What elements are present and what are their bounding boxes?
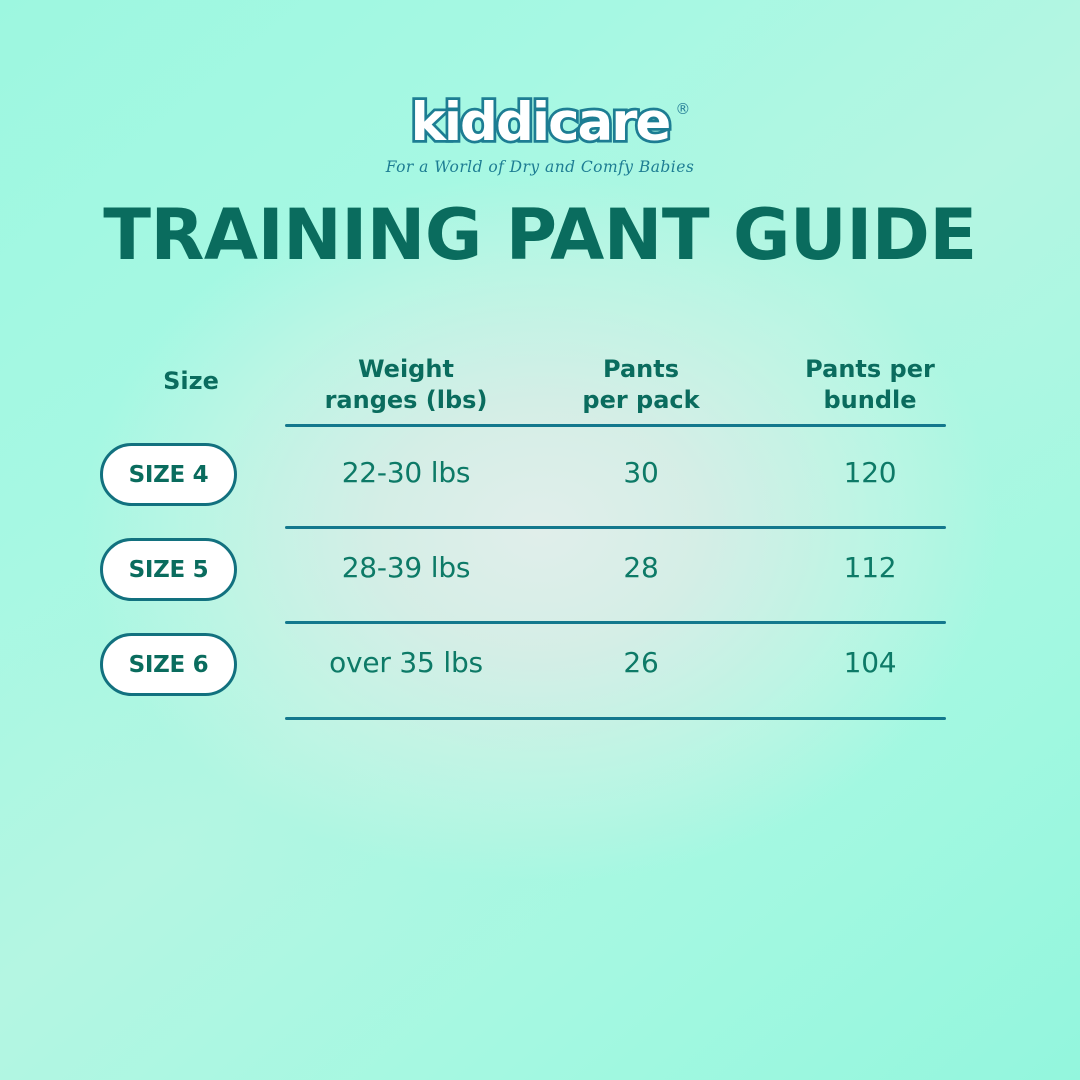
divider-header <box>285 424 946 427</box>
size-guide-table: Size Weight ranges (lbs) Pants per pack … <box>96 340 984 714</box>
divider-row-1 <box>285 526 946 529</box>
column-header-pack-line2: per pack <box>526 385 756 416</box>
column-header-size: Size <box>96 340 286 397</box>
cell-weight-range: 28-39 lbs <box>286 524 526 582</box>
size-pill-cell: SIZE 5 <box>96 524 286 601</box>
cell-pants-per-bundle: 120 <box>756 429 984 487</box>
column-header-bundle-line2: bundle <box>756 385 984 416</box>
size-badge: SIZE 4 <box>100 443 237 506</box>
column-header-bundle-line1: Pants per <box>756 354 984 385</box>
cell-pants-per-bundle: 104 <box>756 619 984 677</box>
cell-weight-range: 22-30 lbs <box>286 429 526 487</box>
table-row: SIZE 6 over 35 lbs 26 104 <box>96 619 984 714</box>
column-header-weight-line1: Weight <box>286 354 526 385</box>
brand-logo: kiddicare ® For a World of Dry and Comfy… <box>0 96 1080 176</box>
cell-weight-range: over 35 lbs <box>286 619 526 677</box>
brand-wordmark: kiddicare <box>411 96 670 149</box>
cell-pants-per-bundle: 112 <box>756 524 984 582</box>
brand-tagline: For a World of Dry and Comfy Babies <box>0 158 1080 176</box>
poster-canvas: kiddicare ® For a World of Dry and Comfy… <box>0 0 1080 1080</box>
column-header-pants-per-pack: Pants per pack <box>526 340 756 415</box>
page-title: TRAINING PANT GUIDE <box>0 199 1080 272</box>
size-pill-cell: SIZE 4 <box>96 429 286 506</box>
table-row: SIZE 5 28-39 lbs 28 112 <box>96 524 984 619</box>
registered-trademark-icon: ® <box>675 102 690 117</box>
table-row: SIZE 4 22-30 lbs 30 120 <box>96 429 984 524</box>
divider-row-2 <box>285 621 946 624</box>
size-badge: SIZE 5 <box>100 538 237 601</box>
size-pill-cell: SIZE 6 <box>96 619 286 696</box>
cell-pants-per-pack: 26 <box>526 619 756 677</box>
divider-row-3 <box>285 717 946 720</box>
column-header-pack-line1: Pants <box>526 354 756 385</box>
size-badge: SIZE 6 <box>100 633 237 696</box>
column-header-weight: Weight ranges (lbs) <box>286 340 526 415</box>
logo-wordmark-row: kiddicare ® <box>411 96 670 149</box>
table-header-row: Size Weight ranges (lbs) Pants per pack … <box>96 340 984 429</box>
column-header-weight-line2: ranges (lbs) <box>286 385 526 416</box>
column-header-pants-per-bundle: Pants per bundle <box>756 340 984 415</box>
cell-pants-per-pack: 30 <box>526 429 756 487</box>
cell-pants-per-pack: 28 <box>526 524 756 582</box>
